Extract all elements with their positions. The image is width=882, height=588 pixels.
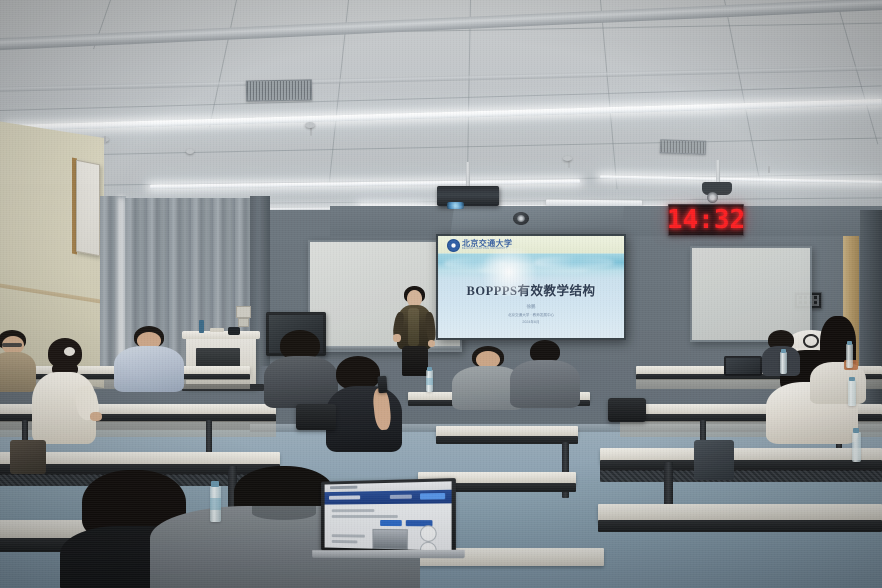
camera-lens	[707, 192, 718, 203]
front-wall-upper-band	[330, 206, 882, 236]
slide-affiliation-1: 北京交通大学 · 教师发展中心	[438, 313, 624, 318]
bottle-cap	[781, 349, 786, 353]
ceiling-camera	[702, 182, 732, 195]
wall-led-clock: 14:32	[668, 204, 744, 236]
clock-time-display: 14:32	[667, 207, 745, 233]
student-laptop[interactable]	[321, 478, 456, 554]
content-line	[332, 534, 365, 537]
bag[interactable]	[10, 440, 46, 474]
backpack[interactable]	[694, 440, 734, 480]
student-dark-hair-center	[266, 330, 336, 406]
student-long-hair-right	[806, 316, 868, 402]
university-logo: 北京交通大学 BEIJING JIAOTONG UNIVERSITY	[447, 239, 512, 252]
ceiling-air-vent	[246, 79, 312, 101]
browser-tab[interactable]	[330, 486, 357, 490]
content-line	[332, 540, 358, 543]
presenter-right-hand	[428, 340, 435, 347]
nav-action-button[interactable]	[420, 493, 445, 500]
dome-camera-lens	[517, 215, 525, 222]
bottle-cap	[853, 428, 859, 433]
slide-affiliation-2: 2024年6月	[438, 320, 624, 325]
laptop-screen[interactable]	[325, 481, 452, 550]
laptop-base[interactable]	[312, 550, 465, 558]
content-button[interactable]	[380, 520, 402, 526]
student-torso	[510, 360, 580, 408]
student-shirt	[114, 346, 184, 392]
bottle-cap	[847, 341, 852, 345]
student-hair	[336, 356, 380, 390]
podium-device	[228, 327, 240, 335]
camera-mount	[716, 160, 720, 182]
bottle-label	[210, 498, 221, 510]
presenter-trousers	[402, 346, 428, 376]
water-bottle[interactable]	[780, 352, 787, 374]
chair-back	[608, 398, 646, 422]
podium-bottle	[199, 320, 204, 333]
wall-switch-plate[interactable]	[236, 306, 251, 318]
wall-speaker	[76, 160, 100, 257]
water-bottle[interactable]	[852, 432, 861, 462]
desk-edge	[436, 436, 578, 444]
desk-modesty-mesh	[600, 470, 882, 482]
student-blue-shirt	[116, 326, 182, 392]
content-thumbnail[interactable]	[372, 529, 407, 550]
slide-title: BOPPPS有效教学结构	[438, 280, 624, 299]
projector-mount	[466, 162, 470, 186]
student-hand	[90, 412, 102, 421]
projection-screen: 北京交通大学 BEIJING JIAOTONG UNIVERSITY BOPPP…	[436, 234, 626, 340]
eyeglasses-icon	[2, 343, 22, 347]
bottle-cap	[849, 377, 855, 381]
podium-papers	[210, 328, 224, 332]
wall-outlet-plate[interactable]	[238, 318, 249, 327]
whiteboard	[690, 246, 812, 342]
slide-presenter-name: 徐鹏	[438, 304, 624, 310]
content-line	[332, 509, 375, 512]
water-bottle[interactable]	[846, 344, 853, 368]
podium-desktop	[182, 331, 260, 339]
circle-control[interactable]	[420, 525, 437, 542]
sprinkler-icon	[104, 136, 106, 144]
smoke-detector-icon	[186, 149, 194, 154]
smartphone[interactable]	[377, 376, 387, 394]
university-seal-icon	[447, 239, 460, 252]
tshirt-collar	[252, 506, 316, 520]
ceiling-air-vent	[660, 139, 706, 155]
slide-wave-decoration	[478, 266, 588, 275]
presentation-slide: 北京交通大学 BEIJING JIAOTONG UNIVERSITY BOPPP…	[438, 236, 624, 338]
sprinkler-icon	[568, 160, 570, 168]
nav-menu-items[interactable]	[390, 495, 412, 499]
sprinkler-icon	[310, 127, 312, 136]
sprinkler-icon	[768, 166, 770, 173]
site-logo	[329, 495, 360, 499]
smoke-detector-icon	[563, 156, 572, 161]
presenter-left-hand	[393, 334, 401, 342]
content-line	[332, 515, 398, 518]
bottle-label	[426, 378, 433, 385]
projector-lens	[447, 202, 464, 209]
smoke-detector-icon	[305, 122, 315, 128]
chair-back	[296, 404, 336, 430]
student-torso	[264, 356, 338, 408]
hair-clip	[64, 347, 75, 356]
bottle-cap	[427, 367, 432, 371]
bottle-cap	[211, 481, 219, 487]
desk-edge	[598, 520, 882, 532]
water-bottle[interactable]	[848, 380, 856, 406]
presenter-jacket-placket	[408, 308, 419, 346]
student-mid-aisle	[512, 340, 578, 404]
student-with-phone	[330, 356, 404, 452]
classroom-photo-scene: 北京交通大学 BEIJING JIAOTONG UNIVERSITY BOPPP…	[0, 0, 882, 588]
logo-english-name: BEIJING JIAOTONG UNIVERSITY	[462, 248, 512, 251]
laptop-screen[interactable]	[726, 358, 760, 374]
